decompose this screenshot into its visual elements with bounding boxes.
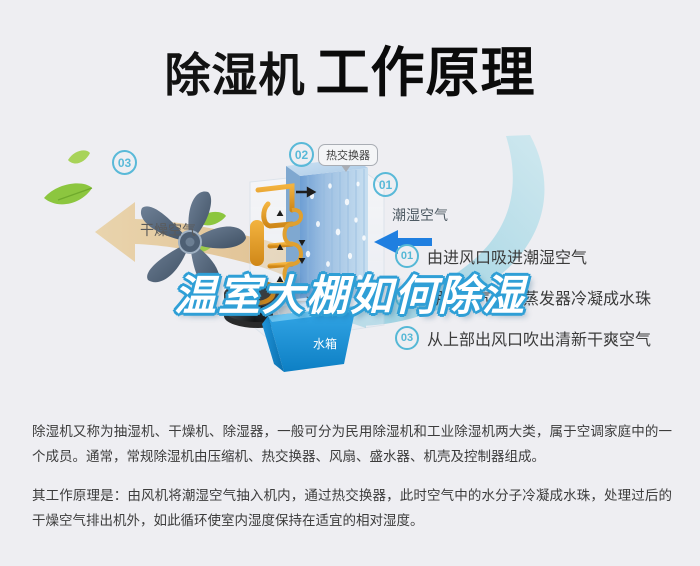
leaf-icon bbox=[68, 150, 90, 163]
step-badge-03: 03 bbox=[395, 326, 419, 350]
diagram-badge-01: 01 bbox=[373, 172, 398, 197]
overlay-watermark-title: 温室大棚如何除湿 bbox=[0, 262, 700, 323]
diagram-badge-03: 03 bbox=[112, 150, 137, 175]
accumulator-cylinder bbox=[250, 220, 264, 266]
page-root: 除湿机工作原理 bbox=[0, 0, 700, 566]
leaf-icon bbox=[44, 183, 92, 204]
title-segment-primary: 除湿机 bbox=[165, 48, 306, 102]
list-item: 03 从上部出风口吹出清新干爽空气 bbox=[395, 326, 651, 350]
water-tank-label: 水箱 bbox=[313, 335, 337, 352]
humid-air-label: 潮湿空气 bbox=[392, 205, 448, 225]
dry-air-label: 干燥空气 bbox=[140, 220, 196, 240]
title-segment-secondary: 工作原理 bbox=[316, 41, 536, 104]
heat-exchanger-callout: 热交换器 bbox=[318, 144, 378, 166]
step-text-03: 从上部出风口吹出清新干爽空气 bbox=[427, 326, 651, 350]
paragraph-2: 其工作原理是：由风机将潮湿空气抽入机内，通过热交换器，此时空气中的水分子冷凝成水… bbox=[32, 484, 672, 534]
diagram-badge-02: 02 bbox=[289, 142, 314, 167]
page-title: 除湿机工作原理 bbox=[0, 28, 700, 107]
article-body: 除湿机又称为抽湿机、干燥机、除湿器，一般可分为民用除湿机和工业除湿机两大类，属于… bbox=[32, 420, 672, 548]
paragraph-1: 除湿机又称为抽湿机、干燥机、除湿器，一般可分为民用除湿机和工业除湿机两大类，属于… bbox=[32, 420, 672, 470]
